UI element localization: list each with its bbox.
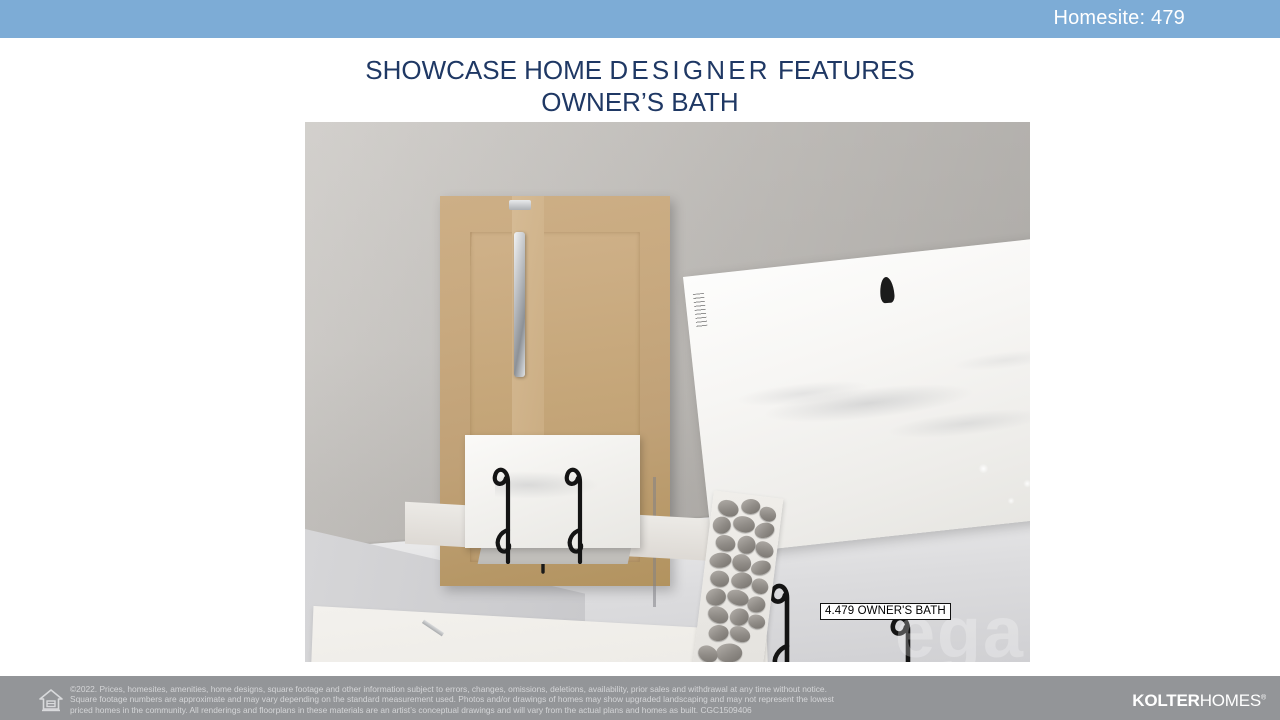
cabinet-handle-mount [509, 200, 531, 210]
pebble-stone [747, 613, 767, 631]
pebble-stone [730, 551, 754, 574]
pebble-stone [728, 606, 750, 627]
cabinet-handle [514, 232, 525, 377]
slab-gloss-highlights [957, 437, 1030, 520]
pebble-stone [741, 499, 761, 515]
easel-small-slab-right [563, 452, 597, 564]
pebble-stone [731, 572, 753, 589]
legal-disclaimer: ©2022. Prices, homesites, amenities, hom… [70, 684, 1080, 715]
page-title: SHOWCASE HOME DESIGNER FEATURES OWNER’S … [0, 54, 1280, 118]
title-line-2: OWNER’S BATH [0, 86, 1280, 118]
pebble-stone [749, 575, 771, 597]
pebble-stone [708, 569, 730, 589]
photo-caption-label: 4.479 OWNER'S BATH [820, 603, 951, 620]
kolter-homes-logo: KOLTERHOMES® [1132, 691, 1266, 711]
title-part-designer: DESIGNER [609, 55, 770, 85]
title-part-features: FEATURES [771, 55, 915, 85]
pebble-stone [716, 643, 742, 662]
pebble-stone [753, 538, 777, 561]
title-line-1: SHOWCASE HOME DESIGNER FEATURES [0, 54, 1280, 86]
disclaimer-line-3: priced homes in the community. All rende… [70, 705, 1080, 715]
disclaimer-line-2: Square footage numbers are approximate a… [70, 694, 1080, 704]
pebble-stone [753, 520, 777, 540]
pebble-stone [731, 514, 756, 535]
easel-small-slab-left [491, 452, 525, 564]
pebble-stone [747, 596, 765, 612]
showcase-photo: ega 4.479 OWNER'S BATH [305, 122, 1030, 662]
equal-housing-opportunity-icon [38, 688, 64, 712]
pebble-stone [757, 504, 779, 524]
pebble-stone [709, 551, 733, 569]
pebble-stone [749, 558, 772, 576]
pebble-stone [714, 533, 738, 554]
pebble-stone [737, 535, 756, 554]
logo-homes-text: HOMES [1200, 691, 1261, 710]
logo-registered-mark: ® [1261, 694, 1266, 701]
pebble-stone [705, 603, 731, 627]
title-part-showcase-home: SHOWCASE HOME [365, 55, 609, 85]
logo-kolter-text: KOLTER [1132, 691, 1199, 710]
disclaimer-line-1: ©2022. Prices, homesites, amenities, hom… [70, 684, 1080, 694]
homesite-label: Homesite: 479 [1053, 7, 1185, 30]
pebble-stone [705, 587, 727, 607]
pebble-stone [708, 624, 729, 642]
pebble-stone [695, 642, 720, 662]
pebble-stone [728, 623, 753, 645]
easel-large-slab-left [767, 572, 807, 662]
pebble-stone [711, 515, 732, 535]
